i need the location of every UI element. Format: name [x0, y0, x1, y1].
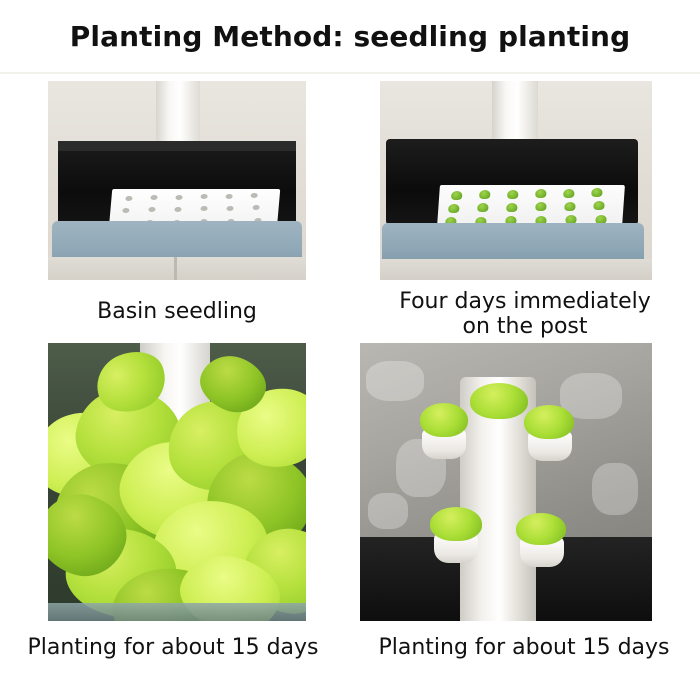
caption-basin-seedling: Basin seedling	[28, 300, 326, 325]
tower-plant	[420, 403, 468, 437]
floor-seam	[174, 257, 177, 280]
tower-plant	[470, 383, 528, 419]
caption-four-days-on-post: Four days immediately on the post	[370, 290, 680, 339]
caption-tower-15-days: Planting for about 15 days	[356, 636, 692, 661]
tower-plant	[430, 507, 482, 541]
image-canvas: Planting Method: seedling planting	[0, 0, 700, 700]
foreground-strip	[48, 603, 306, 621]
caption-lettuce-15-days: Planting for about 15 days	[8, 636, 338, 661]
tower-plant	[516, 513, 566, 545]
title-divider	[0, 72, 700, 74]
photo-lettuce-closeup	[48, 343, 306, 621]
floor	[380, 259, 652, 280]
tower-plant	[524, 405, 574, 439]
black-container-lip	[58, 141, 296, 151]
photo-hydroponic-tower	[360, 343, 652, 621]
photo-four-days-on-post	[380, 81, 652, 280]
photo-basin-seedling	[48, 81, 306, 280]
floor	[48, 257, 306, 280]
page-title: Planting Method: seedling planting	[0, 0, 700, 72]
caption-line-2: on the post	[370, 315, 680, 340]
caption-line-1: Four days immediately	[370, 290, 680, 315]
